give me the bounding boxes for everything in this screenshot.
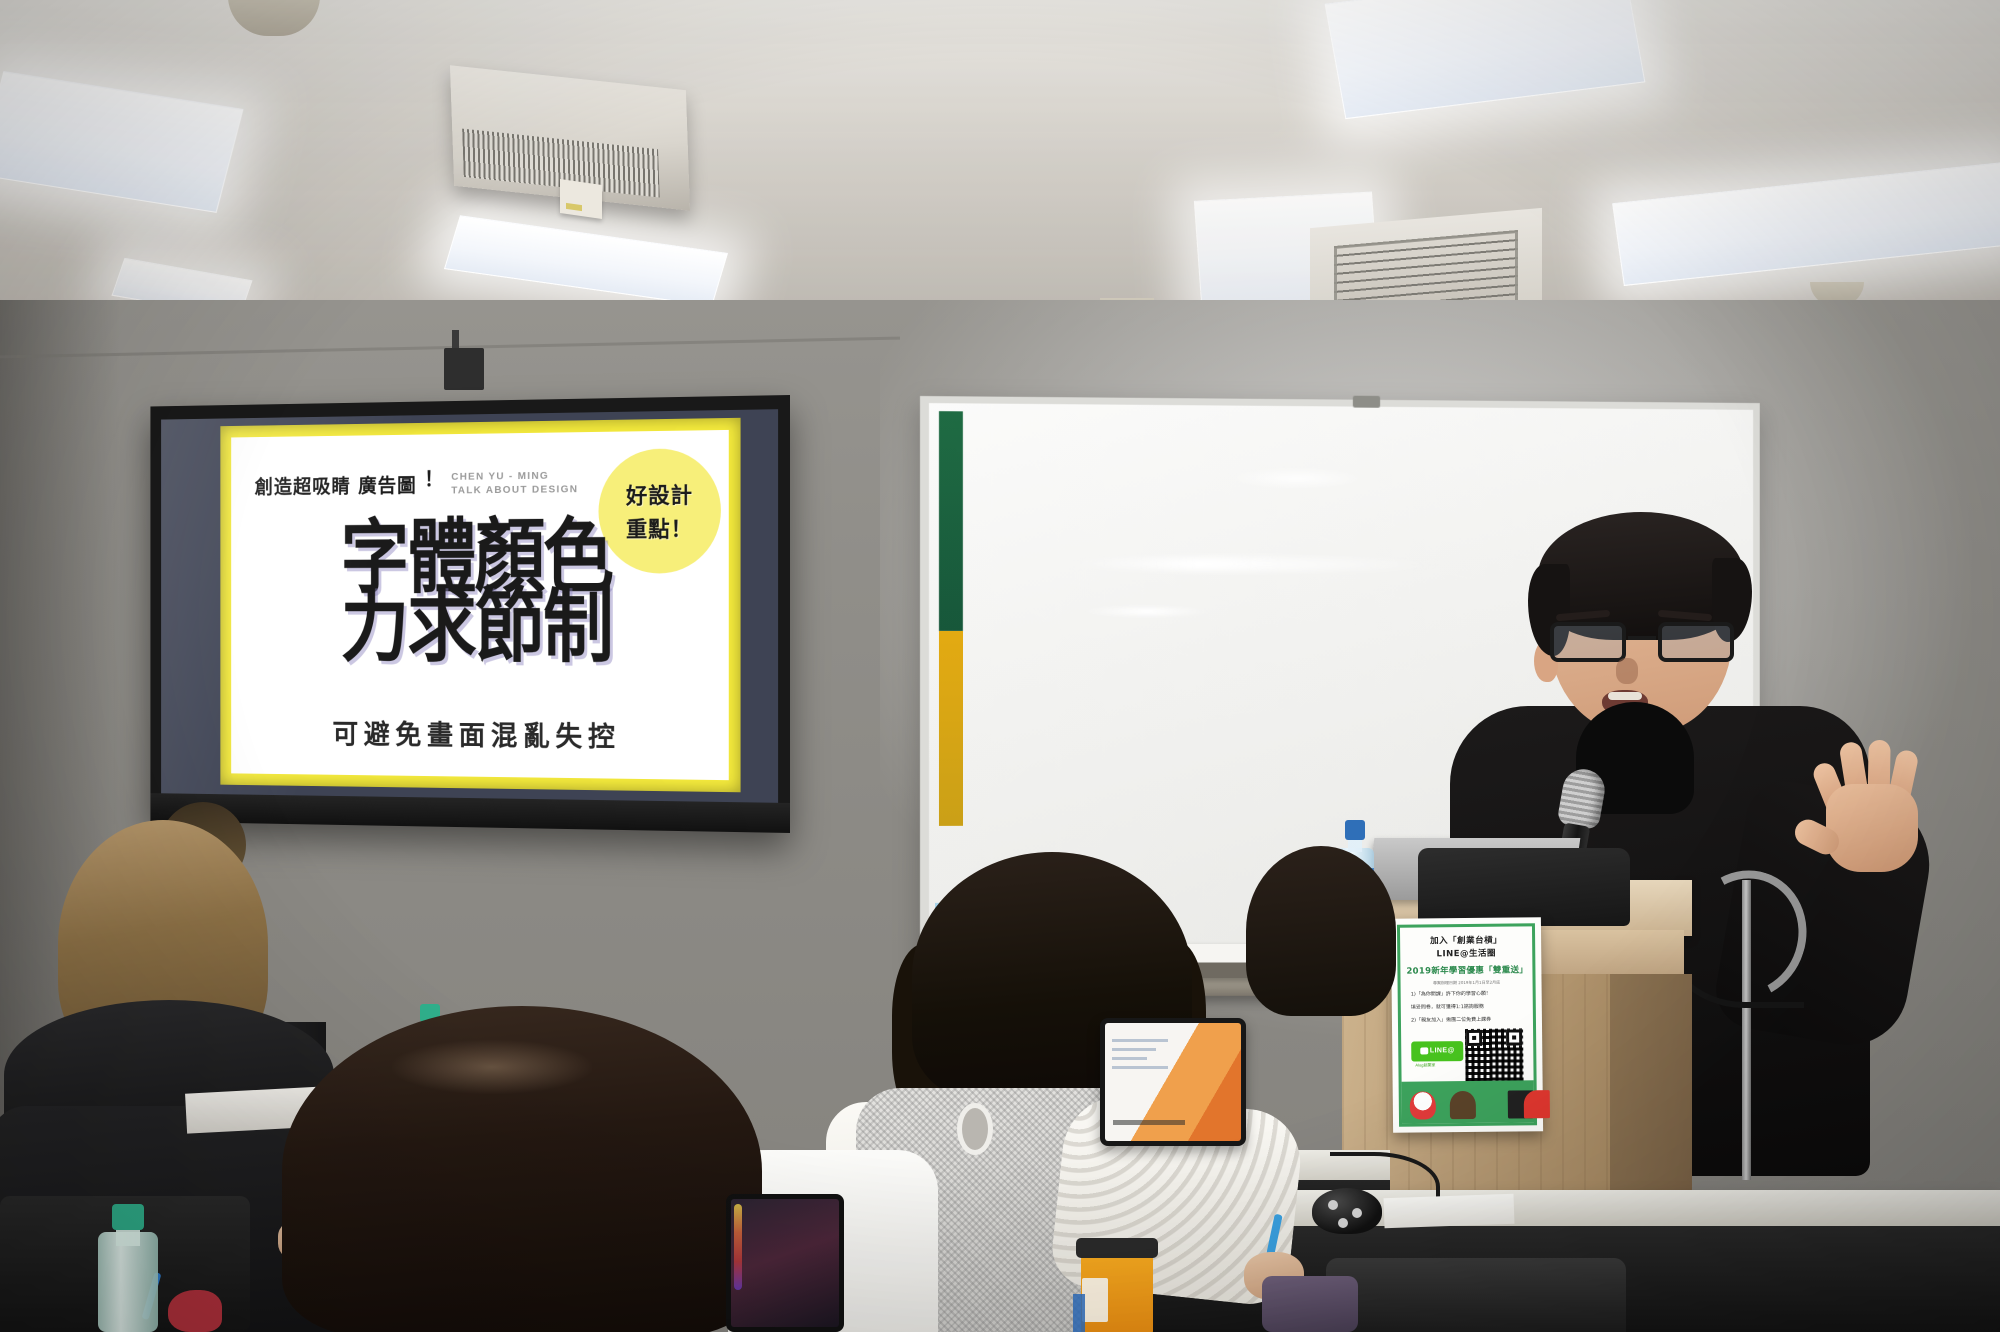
whiteboard-clip: [1353, 396, 1380, 408]
yellow-strip: [939, 631, 963, 826]
poster-line1: 加入「創業台槓」: [1430, 935, 1502, 949]
poster-fineprint: 專案辦理日期 2019年1月1日至2月底: [1433, 979, 1500, 986]
cup-label-blue: [1073, 1294, 1085, 1332]
green-water-bottle: [98, 1204, 158, 1332]
line-badge-sub: Alog創業家: [1415, 1062, 1435, 1068]
hair-highlight: [392, 1040, 592, 1094]
palm: [1826, 784, 1918, 872]
poster-line3: 2019新年學習優惠「雙重送」: [1406, 963, 1526, 976]
line-app-badge: LINE@: [1411, 1041, 1463, 1062]
glasses-lens: [1550, 622, 1626, 662]
slide-kicker-exclamation: ！: [424, 469, 444, 490]
green-strip: [939, 411, 963, 631]
keyhole-neckline: [962, 1108, 988, 1150]
slide-kicker-en-line1: CHEN YU - MING: [451, 470, 549, 483]
slide-kicker-en: CHEN YU - MING TALK ABOUT DESIGN: [451, 468, 578, 498]
glasses-lens: [1658, 622, 1734, 662]
monitor-screen: [1105, 1023, 1241, 1141]
black-bag: [1418, 848, 1630, 926]
line-badge-label: LINE@: [1430, 1047, 1455, 1054]
cup-lid: [1076, 1238, 1158, 1258]
chat-bubble-icon: [1420, 1047, 1428, 1054]
whiteboard-glare: [1230, 467, 1362, 490]
audience-member-2: [282, 1006, 762, 1332]
slide-kicker-cn: 創造超吸睛 廣告圖: [255, 470, 417, 500]
presentation-slide: 創造超吸睛 廣告圖 ！ CHEN YU - MING TALK ABOUT DE…: [220, 418, 740, 792]
classroom-photo-scene: 創造超吸睛 廣告圖 ！ CHEN YU - MING TALK ABOUT DE…: [0, 0, 2000, 1332]
slide-kicker-en-line2: TALK ABOUT DESIGN: [451, 483, 578, 496]
tablet-screen: [731, 1199, 839, 1327]
poster-item1: 1)「為你開課」許下你的學習心願！: [1407, 989, 1527, 999]
poster-footer: [1402, 1080, 1534, 1123]
paper: [1384, 1194, 1515, 1229]
projector-mount: [444, 348, 484, 390]
bottle-body: [98, 1232, 158, 1332]
computer-mouse[interactable]: [1312, 1188, 1382, 1234]
purple-bag: [1262, 1276, 1358, 1332]
bottle-cap: [1345, 820, 1365, 840]
whiteboard-glare: [1064, 556, 1445, 571]
slide-badge-line1: 好設計: [626, 478, 693, 510]
tablet[interactable]: [726, 1194, 844, 1332]
slide-content: 創造超吸睛 廣告圖 ！ CHEN YU - MING TALK ABOUT DE…: [231, 430, 729, 780]
chair: [1326, 1258, 1626, 1332]
slide-title-line2: 力求節制: [231, 588, 729, 667]
monitor: [1100, 1018, 1246, 1146]
poster-line2: LINE@生活圈: [1436, 947, 1496, 960]
mountain-icon: [1450, 1091, 1476, 1119]
glasses-icon: [1548, 622, 1736, 662]
line-poster[interactable]: 加入「創業台槓」 LINE@生活圈 2019新年學習優惠「雙重送」 專案辦理日期…: [1391, 917, 1543, 1133]
presenter-hair: [1538, 512, 1744, 640]
screen-text-lines: [1112, 1039, 1168, 1075]
slide-title: 字體顏色 力求節制: [231, 521, 729, 662]
sticker-icon: [1410, 1091, 1436, 1119]
poster-frame: 加入「創業台槓」 LINE@生活圈 2019新年學習優惠「雙重送」 專案辦理日期…: [1397, 923, 1537, 1126]
poster-item2: 填妥問卷，就可獲得1:1諮詢服務: [1407, 1002, 1527, 1012]
bottle-cap: [112, 1204, 144, 1230]
mouse-pattern-dot: [1352, 1208, 1362, 1218]
whiteboard-glare: [1080, 607, 1213, 615]
speaker-label-tag: [560, 179, 602, 219]
poster-item3: 2)「親友加入」揪團二位免費上課券: [1407, 1015, 1527, 1025]
screen-caption-bar: [1113, 1120, 1185, 1125]
mouse-pattern-dot: [1338, 1218, 1348, 1228]
orange-drink-cup: [1076, 1238, 1158, 1332]
presenter-raised-hand: [1812, 740, 1930, 872]
flag-icon: [1524, 1090, 1550, 1118]
mouse-pattern-dot: [1328, 1200, 1338, 1210]
tv-screen: 創造超吸睛 廣告圖 ！ CHEN YU - MING TALK ABOUT DE…: [161, 409, 778, 803]
red-object: [168, 1290, 222, 1332]
slide-subtitle: 可避免畫面混亂失控: [231, 712, 729, 756]
cup-label: [1082, 1278, 1108, 1322]
slide-kicker: 創造超吸睛 廣告圖 ！ CHEN YU - MING TALK ABOUT DE…: [255, 468, 579, 500]
glasses-bridge: [1628, 636, 1656, 640]
presenter-nose: [1616, 658, 1638, 684]
lectern-side: [1610, 974, 1692, 1220]
wall-display-tv: 創造超吸睛 廣告圖 ！ CHEN YU - MING TALK ABOUT DE…: [150, 395, 790, 833]
qr-code-icon[interactable]: [1465, 1028, 1524, 1087]
